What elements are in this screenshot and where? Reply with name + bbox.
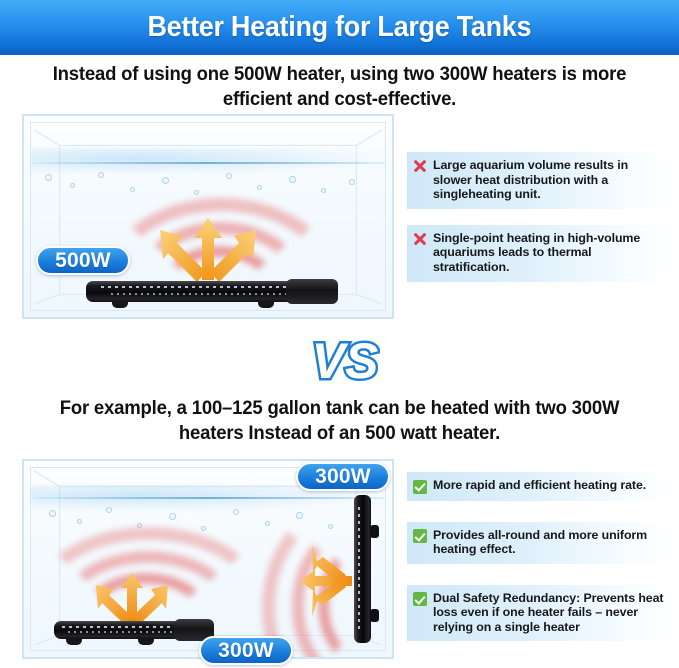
page-header: Better Heating for Large Tanks — [0, 0, 679, 55]
x-icon — [413, 159, 427, 173]
power-badge-300w-top: 300W — [296, 462, 390, 491]
badge-300w-top-label: 300W — [315, 465, 371, 489]
list-item: Provides all-round and more uniform heat… — [407, 522, 675, 564]
middle-paragraph: For example, a 100–125 gallon tank can b… — [34, 396, 645, 446]
heat-flow-arrows — [152, 218, 264, 290]
heat-flow-arrows-left — [92, 573, 172, 627]
badge-500w-label: 500W — [55, 249, 111, 273]
vs-icon: VS — [310, 328, 380, 390]
water-surface-line — [31, 497, 384, 499]
heat-flow-arrows-right — [300, 539, 356, 623]
bullet-text: Large aquarium volume results in slower … — [427, 158, 667, 202]
benefits-list: More rapid and efficient heating rate. P… — [407, 472, 675, 651]
check-icon — [413, 529, 427, 543]
heater-300w-foot-left — [66, 638, 82, 645]
versus-badge: VS — [310, 328, 380, 390]
water-bubbles — [31, 501, 384, 541]
bullet-text: Single-point heating in high-volume aqua… — [427, 231, 667, 275]
heater-500w-foot-left — [112, 301, 128, 308]
drawbacks-list: Large aquarium volume results in slower … — [407, 152, 675, 292]
list-item: Single-point heating in high-volume aqua… — [407, 225, 675, 282]
badge-300w-bottom-label: 300W — [218, 639, 274, 663]
list-item: Dual Safety Redundancy: Prevents heat lo… — [407, 585, 675, 642]
heater-300w-clip-bottom — [370, 609, 379, 622]
heater-500w-foot-right — [258, 301, 274, 308]
list-item: Large aquarium volume results in slower … — [407, 152, 675, 209]
x-icon — [413, 232, 427, 246]
vs-label: VS — [312, 333, 379, 389]
check-icon — [413, 480, 427, 494]
heater-300w-clip-top — [370, 525, 379, 538]
heater-300w-horizontal-body — [54, 621, 194, 639]
bullet-text: More rapid and efficient heating rate. — [427, 478, 646, 493]
water-surface-line — [31, 162, 384, 164]
aquarium-tank-500w — [22, 114, 394, 319]
intro-paragraph: Instead of using one 500W heater, using … — [34, 62, 645, 112]
water-bubbles — [31, 166, 384, 206]
heater-300w-foot-right — [138, 638, 154, 645]
heater-500w-cap — [286, 279, 338, 304]
list-item: More rapid and efficient heating rate. — [407, 472, 675, 501]
power-badge-300w-bottom: 300W — [199, 636, 293, 665]
page-title: Better Heating for Large Tanks — [148, 11, 532, 44]
bullet-text: Dual Safety Redundancy: Prevents heat lo… — [427, 591, 667, 635]
power-badge-500w: 500W — [36, 246, 130, 275]
bullet-text: Provides all-round and more uniform heat… — [427, 528, 667, 557]
check-icon — [413, 592, 427, 606]
heater-300w-vertical-body — [354, 495, 371, 643]
